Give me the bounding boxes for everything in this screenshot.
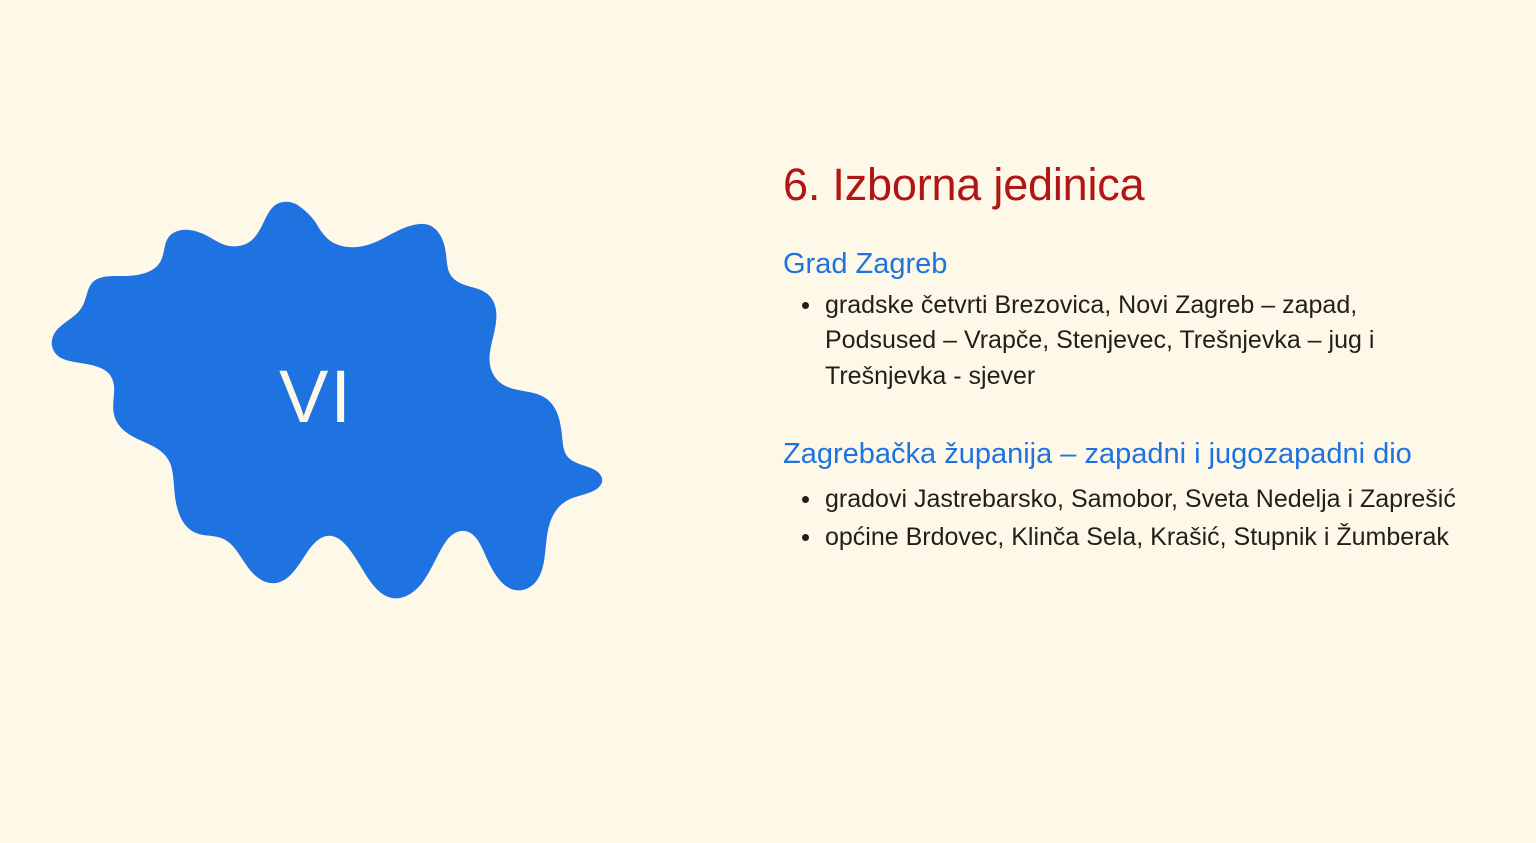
list-item-text: gradovi Jastrebarsko, Samobor, Sveta Ned… (825, 485, 1456, 513)
bullet-list: gradovi Jastrebarsko, Samobor, Sveta Ned… (783, 482, 1473, 555)
list-item: gradske četvrti Brezovica, Novi Zagreb –… (783, 288, 1473, 395)
section-grad-zagreb: Grad Zagreb gradske četvrti Brezovica, N… (783, 244, 1473, 395)
list-item: gradovi Jastrebarsko, Samobor, Sveta Ned… (783, 482, 1473, 518)
page-title: 6. Izborna jedinica (783, 160, 1473, 210)
bullet-list: gradske četvrti Brezovica, Novi Zagreb –… (783, 288, 1473, 395)
bullet-dot-icon (802, 534, 809, 541)
bullet-dot-icon (802, 496, 809, 503)
section-heading: Zagrebačka županija – zapadni i jugozapa… (783, 434, 1473, 474)
section-zagrebacka-zupanija: Zagrebačka županija – zapadni i jugozapa… (783, 434, 1473, 555)
electoral-unit-map-svg: VI (20, 200, 640, 650)
section-heading: Grad Zagreb (783, 244, 1473, 284)
list-item-text: gradske četvrti Brezovica, Novi Zagreb –… (825, 291, 1374, 390)
content-column: 6. Izborna jedinica Grad Zagreb gradske … (783, 160, 1473, 581)
bullet-dot-icon (802, 302, 809, 309)
list-item: općine Brdovec, Klinča Sela, Krašić, Stu… (783, 520, 1473, 556)
slide-canvas: VI 6. Izborna jedinica Grad Zagreb grads… (0, 0, 1536, 843)
list-item-text: općine Brdovec, Klinča Sela, Krašić, Stu… (825, 523, 1449, 551)
map-panel: VI (20, 200, 640, 650)
map-unit-number-label: VI (279, 355, 353, 438)
